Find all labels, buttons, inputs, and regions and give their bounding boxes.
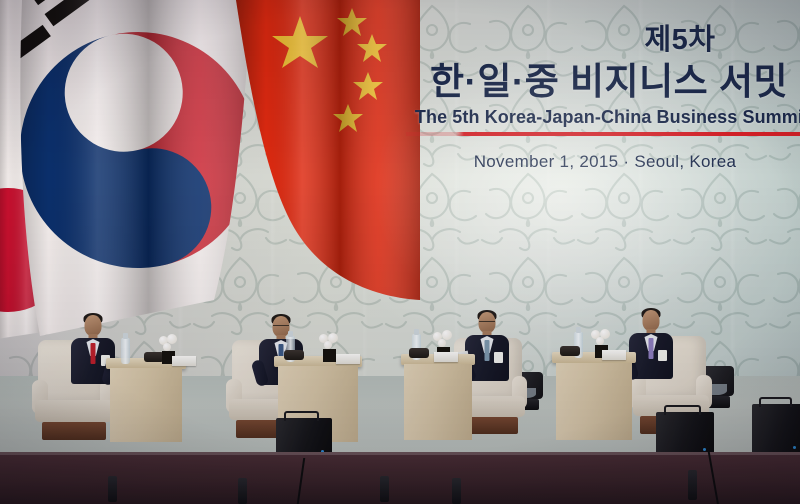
necktie xyxy=(649,338,654,359)
name-badge xyxy=(494,352,503,363)
eyeglasses xyxy=(479,321,495,326)
necktie xyxy=(485,340,490,361)
banner-date-location: November 1, 2015 · Seoul, Korea xyxy=(390,152,800,172)
power-led xyxy=(793,446,796,449)
floor-post xyxy=(238,478,247,504)
side-table xyxy=(556,352,632,440)
microphone-base xyxy=(284,350,304,360)
summit-photo: 제5차 한·일·중 비지니스 서밋 The 5th Korea-Japan-Ch… xyxy=(0,0,800,504)
name-card xyxy=(434,352,458,362)
stage-monitor-speaker xyxy=(752,404,800,456)
floor-post xyxy=(452,478,461,504)
head xyxy=(643,310,660,331)
orchid-pot xyxy=(323,349,336,362)
apron-edge-highlight xyxy=(0,452,800,455)
eyeglasses xyxy=(273,325,289,330)
banner-title-korean: 한·일·중 비지니스 서밋 xyxy=(398,61,800,104)
power-led xyxy=(703,448,706,451)
chair-legs xyxy=(42,422,105,440)
korea-flag xyxy=(0,0,281,340)
floor-post xyxy=(688,470,697,500)
name-card xyxy=(336,354,360,364)
floor-post xyxy=(380,476,389,502)
banner-title-english: The 5th Korea-Japan-China Business Summi… xyxy=(404,107,800,128)
banner-red-rule xyxy=(406,132,800,136)
table-body xyxy=(404,364,472,440)
name-card xyxy=(602,350,626,360)
microphone-base xyxy=(560,346,580,356)
table-body xyxy=(110,368,182,442)
head xyxy=(85,315,102,336)
panelist-4 xyxy=(628,310,674,385)
chair-seat xyxy=(35,400,113,422)
table-body xyxy=(556,363,632,440)
flag-drapes xyxy=(0,0,420,340)
event-banner: 제5차 한·일·중 비지니스 서밋 The 5th Korea-Japan-Ch… xyxy=(390,26,800,172)
microphone-base xyxy=(409,348,429,358)
floor-post xyxy=(108,476,117,502)
banner-prefix-korean: 제5차 xyxy=(540,26,800,55)
side-table xyxy=(110,358,182,442)
stage-apron xyxy=(0,452,800,504)
name-card xyxy=(172,356,196,366)
name-badge xyxy=(658,350,667,361)
side-table xyxy=(404,354,472,440)
necktie xyxy=(91,343,96,364)
water-bottle xyxy=(121,338,130,364)
